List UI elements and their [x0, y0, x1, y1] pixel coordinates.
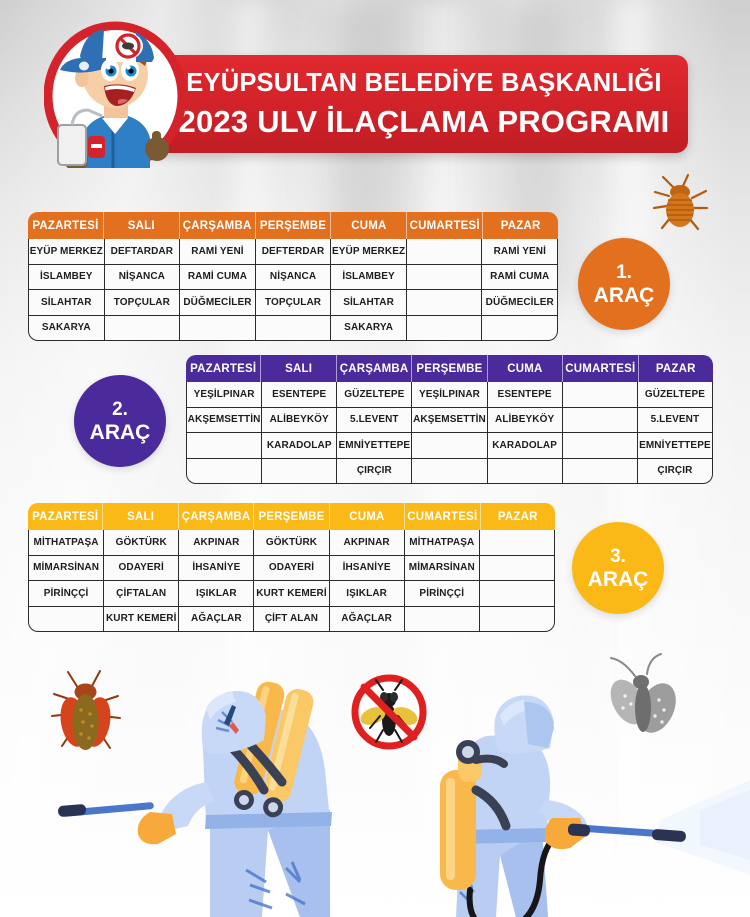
- table-cell: [563, 382, 638, 407]
- table-cell: AKŞEMSETTİN: [412, 408, 487, 433]
- column-header: PAZARTESİ: [28, 503, 103, 530]
- table-cell: [480, 530, 554, 555]
- table-row: SİLAHTAR TOPÇULAR DÜĞMECİLER TOPÇULAR Sİ…: [29, 290, 557, 316]
- table-cell: [187, 459, 262, 484]
- table-cell: [187, 433, 262, 458]
- table-cell: [407, 239, 483, 264]
- vehicle-badge-1: 1. ARAÇ: [578, 238, 670, 330]
- table-row: SAKARYA SAKARYA: [29, 316, 557, 341]
- table-cell: [480, 556, 554, 581]
- table-body: YEŞİLPINAR ESENTEPE GÜZELTEPE YEŞİLPINAR…: [186, 382, 713, 484]
- badge-label: ARAÇ: [90, 422, 151, 443]
- table-cell: TOPÇULAR: [105, 290, 181, 315]
- column-header: PAZARTESİ: [28, 212, 104, 239]
- column-header: ÇARŞAMBA: [337, 355, 412, 382]
- table-cell: ODAYERİ: [254, 556, 329, 581]
- column-header: ÇARŞAMBA: [179, 503, 254, 530]
- table-body: MİTHATPAŞA GÖKTÜRK AKPINAR GÖKTÜRK AKPIN…: [28, 530, 555, 632]
- column-header: PERŞEMBE: [254, 503, 329, 530]
- table-cell: YEŞİLPINAR: [412, 382, 487, 407]
- table-cell: EYÜP MERKEZ: [331, 239, 407, 264]
- table-cell: IŞIKLAR: [179, 581, 254, 606]
- table-cell: [563, 459, 638, 484]
- table-row: İSLAMBEY NİŞANCA RAMİ CUMA NİŞANCA İSLAM…: [29, 265, 557, 291]
- table-cell: PİRİNÇÇİ: [405, 581, 480, 606]
- table-cell: EYÜP MERKEZ: [29, 239, 105, 264]
- poster: EYÜPSULTAN BELEDİYE BAŞKANLIĞI 2023 ULV …: [0, 0, 750, 917]
- table-cell: GÜZELTEPE: [638, 382, 712, 407]
- table-cell: [480, 581, 554, 606]
- title-line-2: 2023 ULV İLAÇLAMA PROGRAMI: [179, 106, 670, 137]
- table-cell: [412, 459, 487, 484]
- table-cell: RAMİ YENİ: [180, 239, 256, 264]
- table-cell: MİMARSİNAN: [29, 556, 104, 581]
- table-cell: ÇİFTALAN: [104, 581, 179, 606]
- table-cell: IŞIKLAR: [330, 581, 405, 606]
- column-header: PERŞEMBE: [256, 212, 332, 239]
- table-cell: İHSANİYE: [330, 556, 405, 581]
- title-banner: EYÜPSULTAN BELEDİYE BAŞKANLIĞI 2023 ULV …: [100, 55, 688, 153]
- table-cell: MİMARSİNAN: [405, 556, 480, 581]
- table-cell: KARADOLAP: [262, 433, 337, 458]
- table-cell: SİLAHTAR: [331, 290, 407, 315]
- schedule-table-vehicle-2: PAZARTESİ SALI ÇARŞAMBA PERŞEMBE CUMA CU…: [186, 355, 713, 484]
- table-cell: RAMİ CUMA: [180, 265, 256, 290]
- table-cell: [262, 459, 337, 484]
- table-cell: [256, 316, 332, 341]
- table-cell: ÇIRÇIR: [638, 459, 712, 484]
- badge-number: 3.: [610, 547, 626, 566]
- table-header-row: PAZARTESİ SALI ÇARŞAMBA PERŞEMBE CUMA CU…: [186, 355, 713, 382]
- table-row: EYÜP MERKEZ DEFTARDAR RAMİ YENİ DEFTERDA…: [29, 239, 557, 265]
- column-header: ÇARŞAMBA: [180, 212, 256, 239]
- badge-number: 1.: [616, 263, 632, 282]
- table-header-row: PAZARTESİ SALI ÇARŞAMBA PERŞEMBE CUMA CU…: [28, 212, 558, 239]
- table-cell: [407, 316, 483, 341]
- table-header-row: PAZARTESİ SALI ÇARŞAMBA PERŞEMBE CUMA CU…: [28, 503, 555, 530]
- column-header: SALI: [261, 355, 336, 382]
- table-cell: RAMİ CUMA: [482, 265, 557, 290]
- badge-number: 2.: [112, 400, 128, 419]
- table-cell: AĞAÇLAR: [179, 607, 254, 632]
- table-cell: GÜZELTEPE: [337, 382, 412, 407]
- table-body: EYÜP MERKEZ DEFTARDAR RAMİ YENİ DEFTERDA…: [28, 239, 558, 341]
- table-cell: 5.LEVENT: [337, 408, 412, 433]
- table-cell: ESENTEPE: [488, 382, 563, 407]
- table-cell: GÖKTÜRK: [104, 530, 179, 555]
- table-cell: SAKARYA: [29, 316, 105, 341]
- table-cell: ÇIRÇIR: [337, 459, 412, 484]
- column-header: CUMARTESİ: [563, 355, 638, 382]
- column-header: CUMA: [331, 212, 407, 239]
- table-cell: TOPÇULAR: [256, 290, 332, 315]
- table-cell: AKPINAR: [179, 530, 254, 555]
- table-cell: ÇİFT ALAN: [254, 607, 329, 632]
- column-header: PAZAR: [481, 503, 555, 530]
- table-cell: SİLAHTAR: [29, 290, 105, 315]
- table-cell: EMNİYETTEPE: [638, 433, 712, 458]
- table-cell: NİŞANCA: [105, 265, 181, 290]
- table-cell: İHSANİYE: [179, 556, 254, 581]
- column-header: SALI: [103, 503, 178, 530]
- table-row: YEŞİLPINAR ESENTEPE GÜZELTEPE YEŞİLPINAR…: [187, 382, 712, 408]
- table-cell: RAMİ YENİ: [482, 239, 557, 264]
- column-header: PAZAR: [639, 355, 713, 382]
- table-cell: DEFTERDAR: [256, 239, 332, 264]
- title-line-1: EYÜPSULTAN BELEDİYE BAŞKANLIĞI: [186, 71, 661, 97]
- table-cell: ODAYERİ: [104, 556, 179, 581]
- table-cell: DÜĞMECİLER: [180, 290, 256, 315]
- badge-label: ARAÇ: [594, 285, 655, 306]
- schedule-table-vehicle-3: PAZARTESİ SALI ÇARŞAMBA PERŞEMBE CUMA CU…: [28, 503, 555, 632]
- table-cell: EMNİYETTEPE: [337, 433, 412, 458]
- vehicle-badge-3: 3. ARAÇ: [572, 522, 664, 614]
- bedbug-icon: [652, 172, 712, 234]
- table-cell: [412, 433, 487, 458]
- table-cell: [563, 408, 638, 433]
- table-cell: MİTHATPAŞA: [405, 530, 480, 555]
- table-cell: [563, 433, 638, 458]
- table-cell: İSLAMBEY: [29, 265, 105, 290]
- table-cell: KURT KEMERİ: [254, 581, 329, 606]
- table-cell: [180, 316, 256, 341]
- column-header: CUMARTESİ: [405, 503, 480, 530]
- badge-label: ARAÇ: [588, 569, 649, 590]
- table-row: KARADOLAP EMNİYETTEPE KARADOLAP EMNİYETT…: [187, 433, 712, 459]
- table-cell: PİRİNÇÇİ: [29, 581, 104, 606]
- table-cell: AĞAÇLAR: [330, 607, 405, 632]
- table-cell: DEFTARDAR: [105, 239, 181, 264]
- table-cell: [105, 316, 181, 341]
- table-cell: [488, 459, 563, 484]
- column-header: CUMA: [330, 503, 405, 530]
- table-cell: İSLAMBEY: [331, 265, 407, 290]
- table-row: MİMARSİNAN ODAYERİ İHSANİYE ODAYERİ İHSA…: [29, 556, 554, 582]
- table-cell: KARADOLAP: [488, 433, 563, 458]
- table-cell: ALİBEYKÖY: [488, 408, 563, 433]
- table-cell: KURT KEMERİ: [104, 607, 179, 632]
- table-cell: 5.LEVENT: [638, 408, 712, 433]
- column-header: PERŞEMBE: [412, 355, 487, 382]
- table-cell: [482, 316, 557, 341]
- table-cell: ALİBEYKÖY: [262, 408, 337, 433]
- table-row: ÇIRÇIR ÇIRÇIR: [187, 459, 712, 484]
- table-row: MİTHATPAŞA GÖKTÜRK AKPINAR GÖKTÜRK AKPIN…: [29, 530, 554, 556]
- table-cell: MİTHATPAŞA: [29, 530, 104, 555]
- column-header: PAZAR: [483, 212, 558, 239]
- table-cell: GÖKTÜRK: [254, 530, 329, 555]
- table-row: PİRİNÇÇİ ÇİFTALAN IŞIKLAR KURT KEMERİ IŞ…: [29, 581, 554, 607]
- table-row: AKŞEMSETTİN ALİBEYKÖY 5.LEVENT AKŞEMSETT…: [187, 408, 712, 434]
- table-cell: NİŞANCA: [256, 265, 332, 290]
- table-row: KURT KEMERİ AĞAÇLAR ÇİFT ALAN AĞAÇLAR: [29, 607, 554, 632]
- table-cell: [407, 265, 483, 290]
- table-cell: AKPINAR: [330, 530, 405, 555]
- table-cell: [480, 607, 554, 632]
- schedule-table-vehicle-1: PAZARTESİ SALI ÇARŞAMBA PERŞEMBE CUMA CU…: [28, 212, 558, 341]
- table-cell: DÜĞMECİLER: [482, 290, 557, 315]
- table-cell: ESENTEPE: [262, 382, 337, 407]
- table-cell: YEŞİLPINAR: [187, 382, 262, 407]
- table-cell: SAKARYA: [331, 316, 407, 341]
- vehicle-badge-2: 2. ARAÇ: [74, 375, 166, 467]
- bottom-illustration: [0, 630, 750, 917]
- table-cell: [29, 607, 104, 632]
- column-header: SALI: [104, 212, 180, 239]
- column-header: CUMARTESİ: [407, 212, 483, 239]
- table-cell: AKŞEMSETTİN: [187, 408, 262, 433]
- table-cell: [407, 290, 483, 315]
- column-header: PAZARTESİ: [186, 355, 261, 382]
- pest-control-worker-mascot: [44, 18, 186, 168]
- table-cell: [405, 607, 480, 632]
- column-header: CUMA: [488, 355, 563, 382]
